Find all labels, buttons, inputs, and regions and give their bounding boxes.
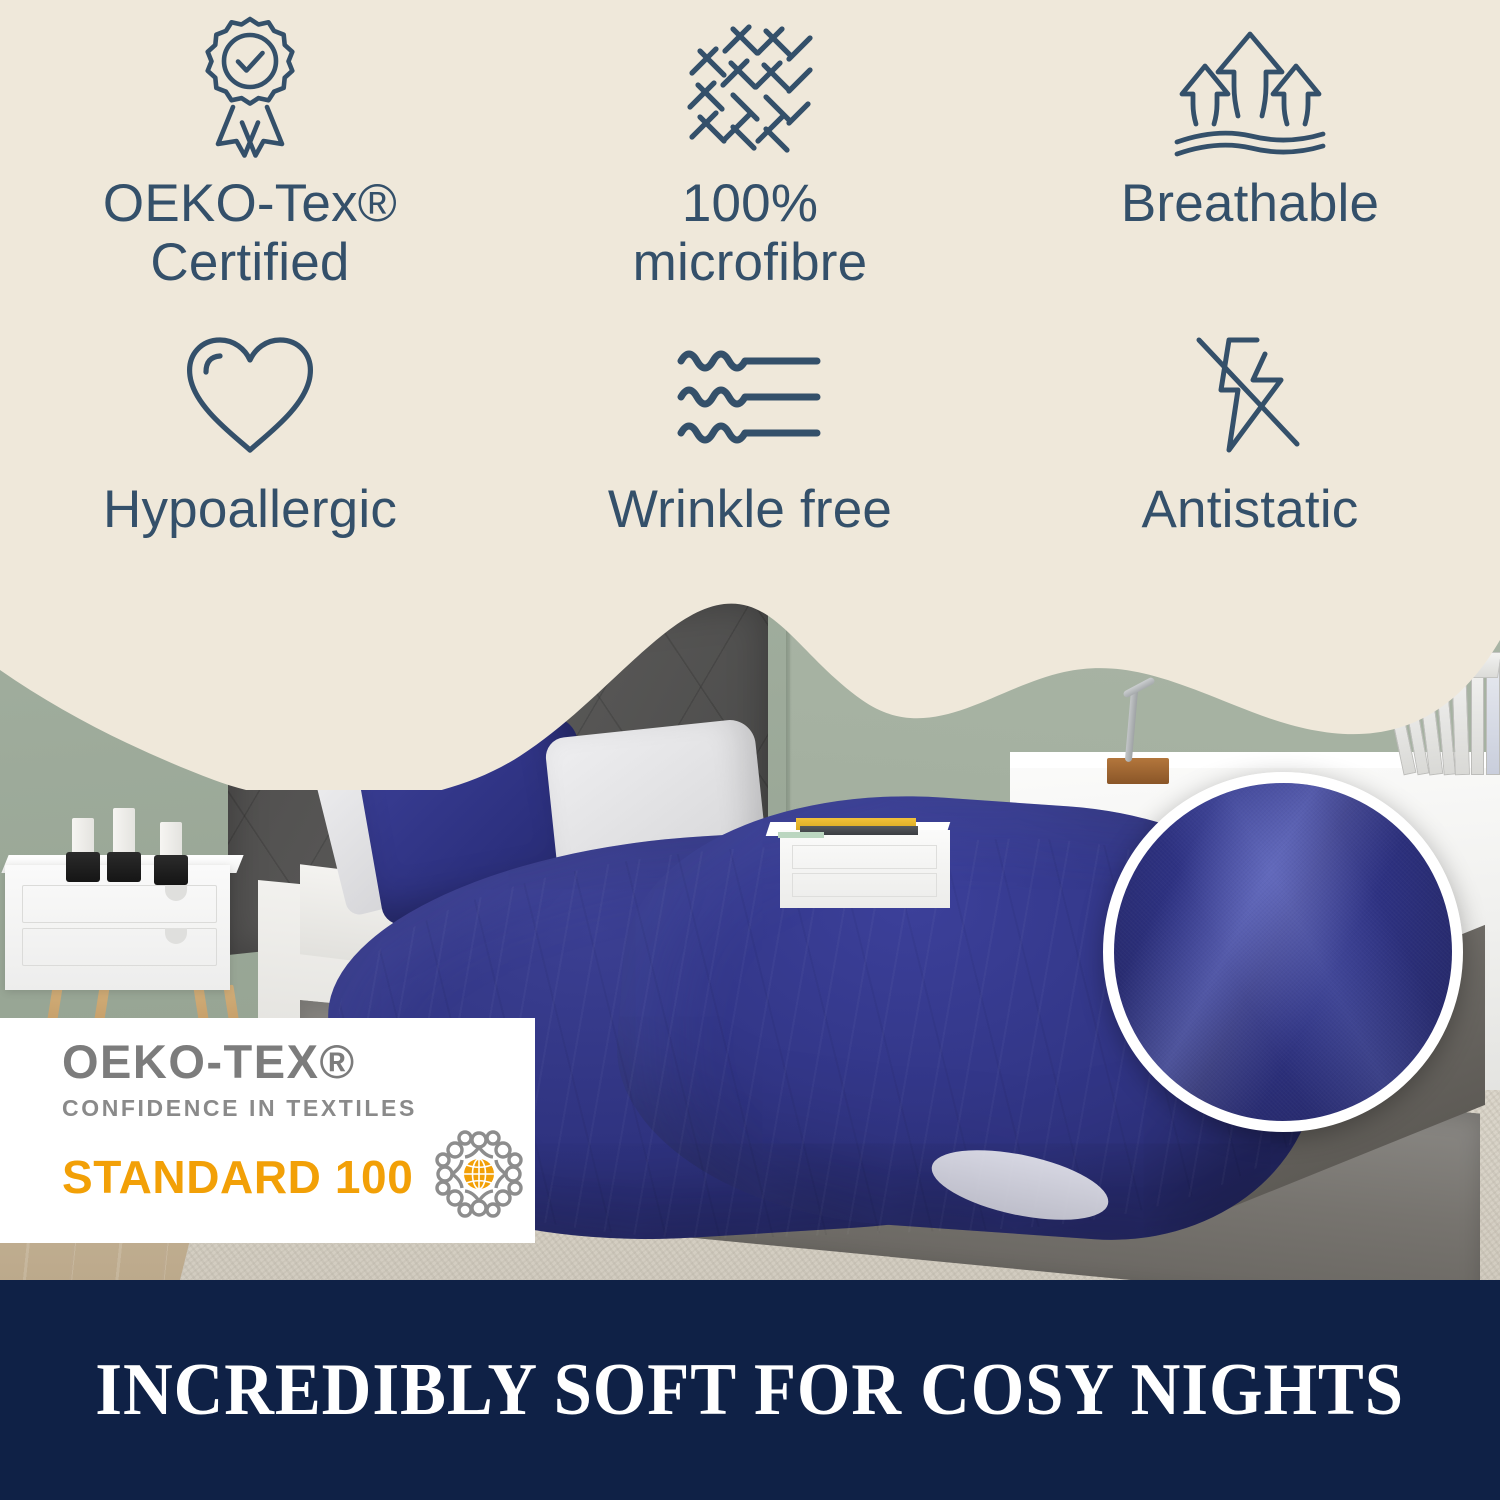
fabric-closeup-circle — [1103, 772, 1463, 1132]
certificate-subtitle: CONFIDENCE IN TEXTILES — [62, 1095, 535, 1122]
wavy-to-straight-lines-icon — [675, 330, 825, 460]
feature-label: Breathable — [1121, 174, 1379, 233]
feature-wrinkle-free: Wrinkle free — [500, 330, 1000, 580]
feature-label: Hypoallergic — [103, 480, 397, 539]
feature-label: OEKO-Tex® Certified — [103, 174, 397, 293]
oeko-tex-globe-emblem — [435, 1130, 523, 1223]
certificate-title: OEKO-TEX® — [62, 1038, 535, 1085]
feature-hypoallergic: Hypoallergic — [0, 330, 500, 580]
feature-breathable: Breathable — [1000, 0, 1500, 330]
candle-holder — [107, 852, 141, 882]
feature-label: Antistatic — [1141, 480, 1358, 539]
feature-microfibre: 100% microfibre — [500, 0, 1000, 330]
breathable-arrows-icon — [1165, 0, 1335, 160]
oeko-tex-certificate-badge: OEKO-TEX® CONFIDENCE IN TEXTILES STANDAR… — [0, 1018, 535, 1243]
certificate-standard: STANDARD 100 — [62, 1150, 413, 1204]
right-nightstand-drawer-1 — [792, 845, 937, 869]
feature-oeko-tex-certified: OEKO-Tex® Certified — [0, 0, 500, 330]
feature-label: Wrinkle free — [608, 480, 892, 539]
bottom-banner: INCREDIBLY SOFT FOR COSY NIGHTS — [0, 1280, 1500, 1500]
feature-antistatic: Antistatic — [1000, 330, 1500, 580]
heart-icon — [182, 330, 318, 460]
certified-badge-icon — [185, 0, 315, 160]
feature-grid: OEKO-Tex® Certified — [0, 0, 1500, 620]
right-nightstand-drawer-2 — [792, 873, 937, 897]
green-book — [778, 832, 824, 838]
woven-fabric-icon — [670, 0, 830, 160]
feature-label: 100% microfibre — [633, 174, 868, 293]
left-nightstand-drawer-1 — [22, 885, 217, 923]
left-nightstand-drawer-2 — [22, 928, 217, 966]
banner-headline: INCREDIBLY SOFT FOR COSY NIGHTS — [96, 1348, 1405, 1433]
candle-holder — [66, 852, 100, 882]
fabric-weave-texture — [1114, 783, 1452, 1121]
stacked-books-top — [1408, 652, 1500, 678]
candle-holder — [154, 855, 188, 885]
wood-block — [1107, 758, 1169, 784]
product-infographic: OEKO-Tex® Certified — [0, 0, 1500, 1500]
lightning-bolt-crossed-icon — [1185, 330, 1315, 460]
